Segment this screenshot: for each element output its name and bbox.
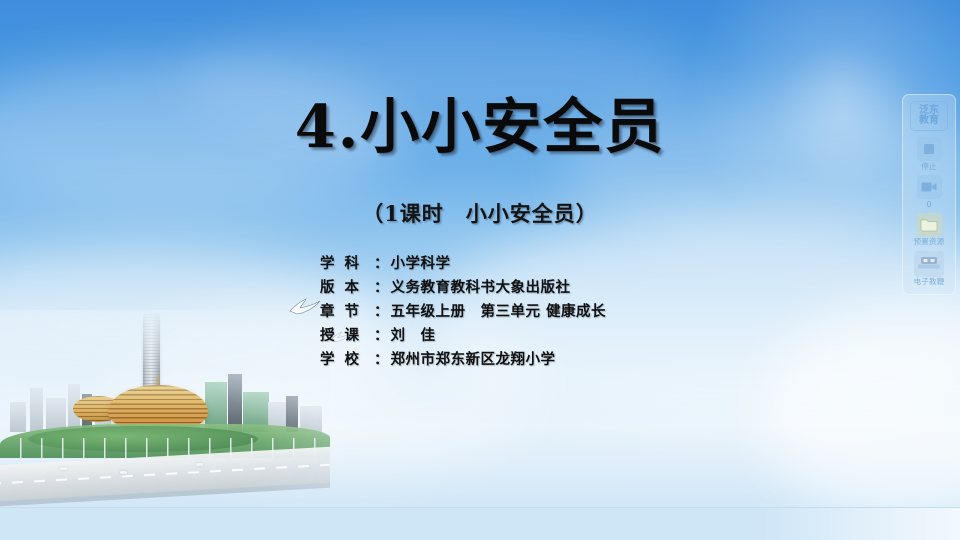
cloud-wisp <box>760 300 960 520</box>
presentation-slide: 4.小小安全员 （1课时 小小安全员） 学科 ： 小学科学 版本 ： 义务教育教… <box>0 0 960 540</box>
info-row-school: 学校 ： 郑州市郑东新区龙翔小学 <box>320 348 606 372</box>
toolbar-label-stop: 停止 <box>921 163 936 171</box>
info-value-teacher: 刘 佳 <box>391 324 436 345</box>
info-label-subject: 学科 <box>320 252 374 273</box>
info-label-teacher: 授课 <box>320 324 374 345</box>
lesson-info-block: 学科 ： 小学科学 版本 ： 义务教育教科书大象出版社 章节 ： 五年级上册 第… <box>320 252 606 372</box>
stop-icon[interactable] <box>917 137 942 161</box>
toolbar-label-record-count: 0 <box>926 200 931 209</box>
info-row-teacher: 授课 ： 刘 佳 <box>320 324 606 348</box>
floating-toolbar[interactable]: 泛东 教育 停止 0 预置资源 <box>902 94 956 295</box>
slide-subtitle: （1课时 小小安全员） <box>0 198 960 228</box>
info-label-edition: 版本 <box>320 276 374 297</box>
info-value-subject: 小学科学 <box>391 252 451 273</box>
video-camera-icon[interactable] <box>917 175 942 199</box>
info-row-edition: 版本 ： 义务教育教科书大象出版社 <box>320 276 606 300</box>
atmospheric-haze <box>0 310 330 510</box>
info-colon: ： <box>374 300 389 321</box>
info-value-chapter: 五年级上册 第三单元 健康成长 <box>391 300 607 321</box>
info-row-subject: 学科 ： 小学科学 <box>320 252 606 276</box>
toolbar-item-preset-resources[interactable]: 预置资源 <box>903 213 955 247</box>
city-skyline-image <box>0 310 330 510</box>
strip-sheen <box>760 508 960 540</box>
info-colon: ： <box>374 348 389 369</box>
toolbar-label-preset-resources: 预置资源 <box>914 238 945 246</box>
info-label-school: 学校 <box>320 348 374 369</box>
pointer-icon[interactable] <box>914 251 944 277</box>
toolbar-label-electronic-pointer: 电子教鞭 <box>914 278 945 286</box>
info-value-school: 郑州市郑东新区龙翔小学 <box>391 348 556 369</box>
folder-icon[interactable] <box>917 213 942 237</box>
info-row-chapter: 章节 ： 五年级上册 第三单元 健康成长 <box>320 300 606 324</box>
bottom-strip <box>0 507 960 540</box>
toolbar-item-electronic-pointer[interactable]: 电子教鞭 <box>903 251 955 287</box>
toolbar-item-stop[interactable]: 停止 <box>903 137 955 171</box>
toolbar-item-record[interactable]: 0 <box>903 175 955 209</box>
app-logo: 泛东 教育 <box>910 101 948 131</box>
info-colon: ： <box>374 324 389 345</box>
info-colon: ： <box>374 276 389 297</box>
info-label-chapter: 章节 <box>320 300 374 321</box>
slide-title: 4.小小安全员 <box>0 97 960 156</box>
app-logo-line2: 教育 <box>919 116 939 126</box>
info-value-edition: 义务教育教科书大象出版社 <box>391 276 571 297</box>
info-colon: ： <box>374 252 389 273</box>
